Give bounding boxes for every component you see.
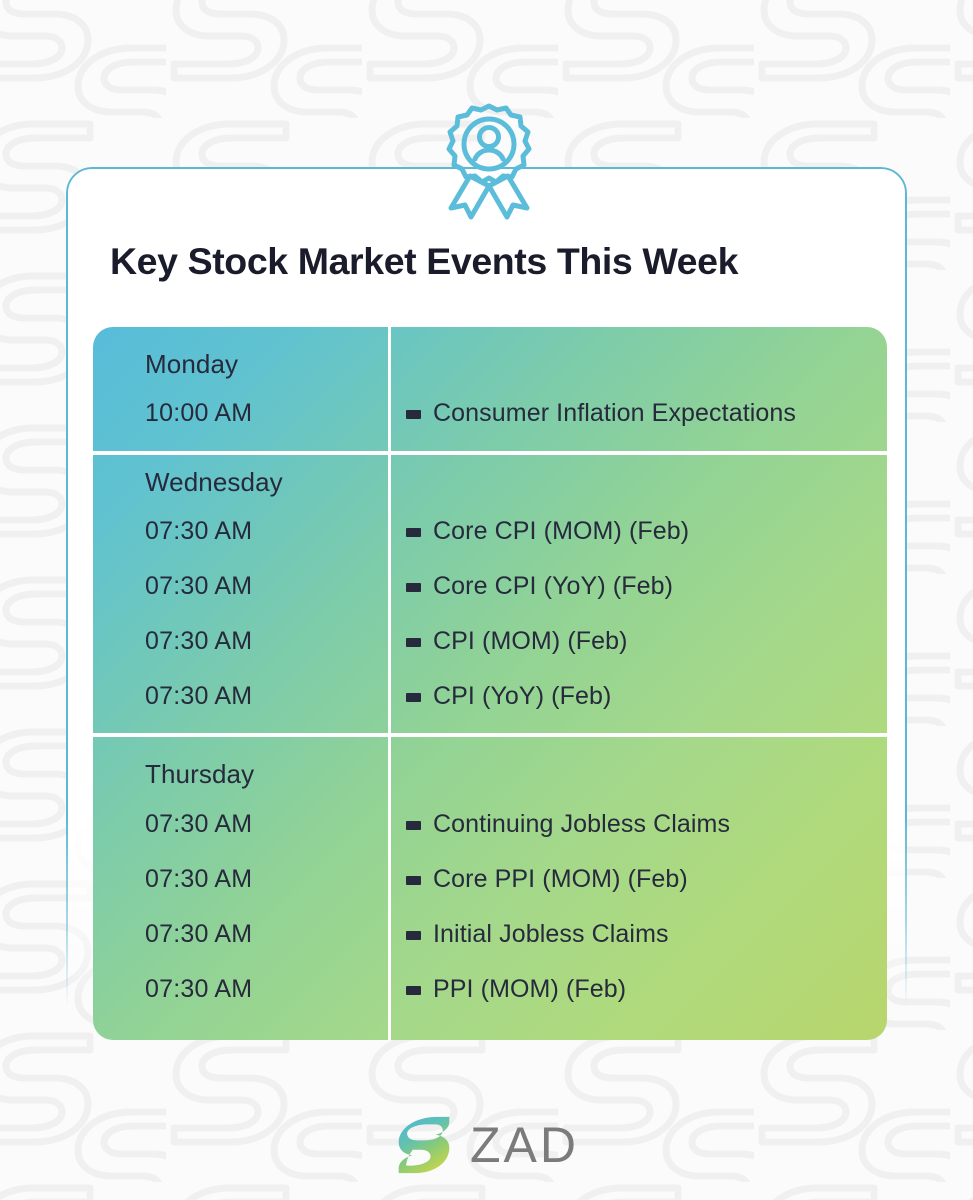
square-bullet-icon — [406, 931, 421, 940]
events-schedule-table: Monday 10:00 AM Consumer Inflation Expec… — [93, 327, 887, 1040]
event-name: Continuing Jobless Claims — [433, 810, 730, 839]
day-label: Wednesday — [145, 467, 283, 498]
square-bullet-icon — [406, 821, 421, 830]
table-row: 07:30 AM Initial Jobless Claims — [93, 920, 887, 975]
event-name: Core CPI (YoY) (Feb) — [433, 572, 673, 601]
award-badge-person-icon — [437, 100, 541, 220]
table-row: 07:30 AM PPI (MOM) (Feb) — [93, 975, 887, 1030]
event-name-cell: Core CPI (YoY) (Feb) — [406, 572, 673, 601]
event-name-cell: Consumer Inflation Expectations — [406, 399, 796, 428]
table-row: 10:00 AM Consumer Inflation Expectations — [93, 399, 887, 454]
event-name-cell: CPI (YoY) (Feb) — [406, 682, 611, 711]
square-bullet-icon — [406, 528, 421, 537]
table-row: 07:30 AM Core PPI (MOM) (Feb) — [93, 865, 887, 920]
square-bullet-icon — [406, 583, 421, 592]
event-time: 07:30 AM — [145, 920, 252, 949]
day-label: Monday — [145, 349, 238, 380]
event-time: 10:00 AM — [145, 399, 252, 428]
event-time: 07:30 AM — [145, 975, 252, 1004]
day-group-wednesday: Wednesday 07:30 AM Core CPI (MOM) (Feb) … — [93, 455, 887, 735]
footer-brand: ZAD — [0, 1108, 973, 1182]
table-row: 07:30 AM CPI (YoY) (Feb) — [93, 682, 887, 737]
event-name-cell: Initial Jobless Claims — [406, 920, 669, 949]
page-title: Key Stock Market Events This Week — [110, 240, 910, 283]
event-name-cell: Continuing Jobless Claims — [406, 810, 730, 839]
square-bullet-icon — [406, 876, 421, 885]
brand-name: ZAD — [470, 1116, 579, 1174]
event-name: Initial Jobless Claims — [433, 920, 669, 949]
event-name: CPI (MOM) (Feb) — [433, 627, 628, 656]
event-name-cell: PPI (MOM) (Feb) — [406, 975, 626, 1004]
table-row: 07:30 AM Continuing Jobless Claims — [93, 810, 887, 865]
table-row: 07:30 AM Core CPI (YoY) (Feb) — [93, 572, 887, 627]
square-bullet-icon — [406, 638, 421, 647]
table-row: 07:30 AM Core CPI (MOM) (Feb) — [93, 517, 887, 572]
event-time: 07:30 AM — [145, 810, 252, 839]
zad-leaf-logo-icon — [394, 1115, 454, 1175]
event-time: 07:30 AM — [145, 682, 252, 711]
event-name: Core PPI (MOM) (Feb) — [433, 865, 688, 894]
day-group-monday: Monday 10:00 AM Consumer Inflation Expec… — [93, 327, 887, 457]
event-time: 07:30 AM — [145, 865, 252, 894]
event-name: Consumer Inflation Expectations — [433, 399, 796, 428]
event-time: 07:30 AM — [145, 517, 252, 546]
square-bullet-icon — [406, 410, 421, 419]
event-time: 07:30 AM — [145, 572, 252, 601]
event-name: Core CPI (MOM) (Feb) — [433, 517, 689, 546]
square-bullet-icon — [406, 986, 421, 995]
day-group-thursday: Thursday 07:30 AM Continuing Jobless Cla… — [93, 737, 887, 1040]
square-bullet-icon — [406, 693, 421, 702]
event-name: PPI (MOM) (Feb) — [433, 975, 626, 1004]
event-name-cell: Core PPI (MOM) (Feb) — [406, 865, 688, 894]
event-name-cell: CPI (MOM) (Feb) — [406, 627, 628, 656]
event-name-cell: Core CPI (MOM) (Feb) — [406, 517, 689, 546]
event-name: CPI (YoY) (Feb) — [433, 682, 611, 711]
day-label: Thursday — [145, 759, 254, 790]
table-row: 07:30 AM CPI (MOM) (Feb) — [93, 627, 887, 682]
event-time: 07:30 AM — [145, 627, 252, 656]
